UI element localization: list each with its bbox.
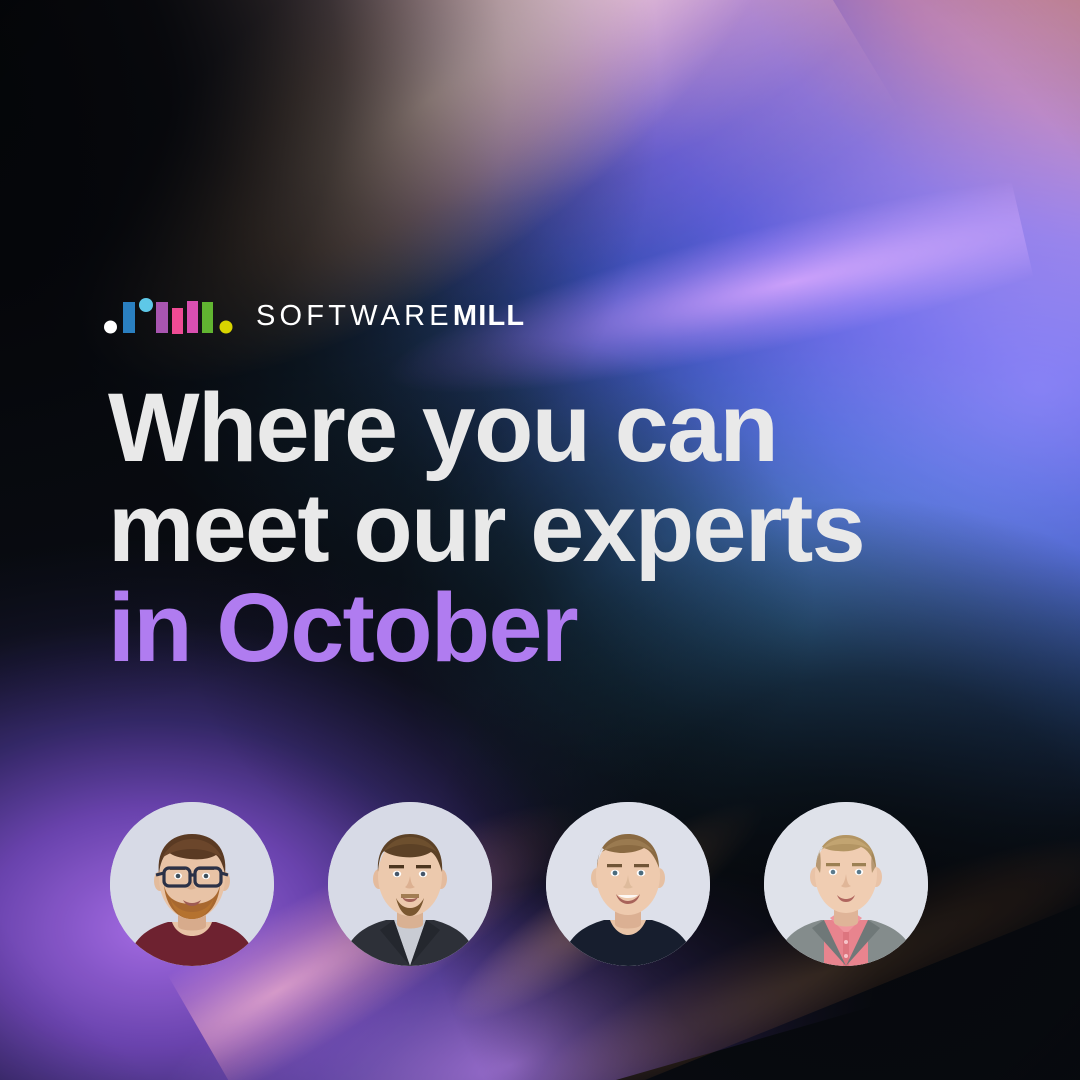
headline-line-1: Where you can bbox=[108, 378, 1008, 478]
avatar-image-4 bbox=[764, 802, 928, 966]
wordmark-software: SOFTWARE bbox=[256, 302, 453, 331]
expert-portrait-4[interactable] bbox=[764, 802, 928, 966]
softwaremill-logo[interactable]: SOFTWARE MILL bbox=[104, 294, 525, 334]
poster-content: SOFTWARE MILL Where you can meet our exp… bbox=[0, 0, 1080, 1080]
wordmark-mill: MILL bbox=[453, 302, 525, 331]
page-title: Where you can meet our experts in Octobe… bbox=[108, 378, 1008, 678]
softwaremill-yellow-dot-icon bbox=[218, 294, 234, 334]
expert-portrait-3[interactable] bbox=[546, 802, 710, 966]
expert-portrait-2[interactable] bbox=[328, 802, 492, 966]
avatar-image-2 bbox=[328, 802, 492, 966]
expert-avatar-row bbox=[110, 802, 928, 966]
headline-line-2: meet our experts bbox=[108, 478, 1008, 578]
poster-canvas: SOFTWARE MILL Where you can meet our exp… bbox=[0, 0, 1080, 1080]
avatar-image-1 bbox=[110, 802, 274, 966]
softwaremill-wordmark: SOFTWARE MILL bbox=[256, 302, 525, 331]
expert-portrait-1[interactable] bbox=[110, 802, 274, 966]
avatar-image-3 bbox=[546, 802, 710, 966]
softwaremill-bars-logo-icon bbox=[104, 294, 216, 334]
headline-line-3: in October bbox=[108, 578, 1008, 678]
